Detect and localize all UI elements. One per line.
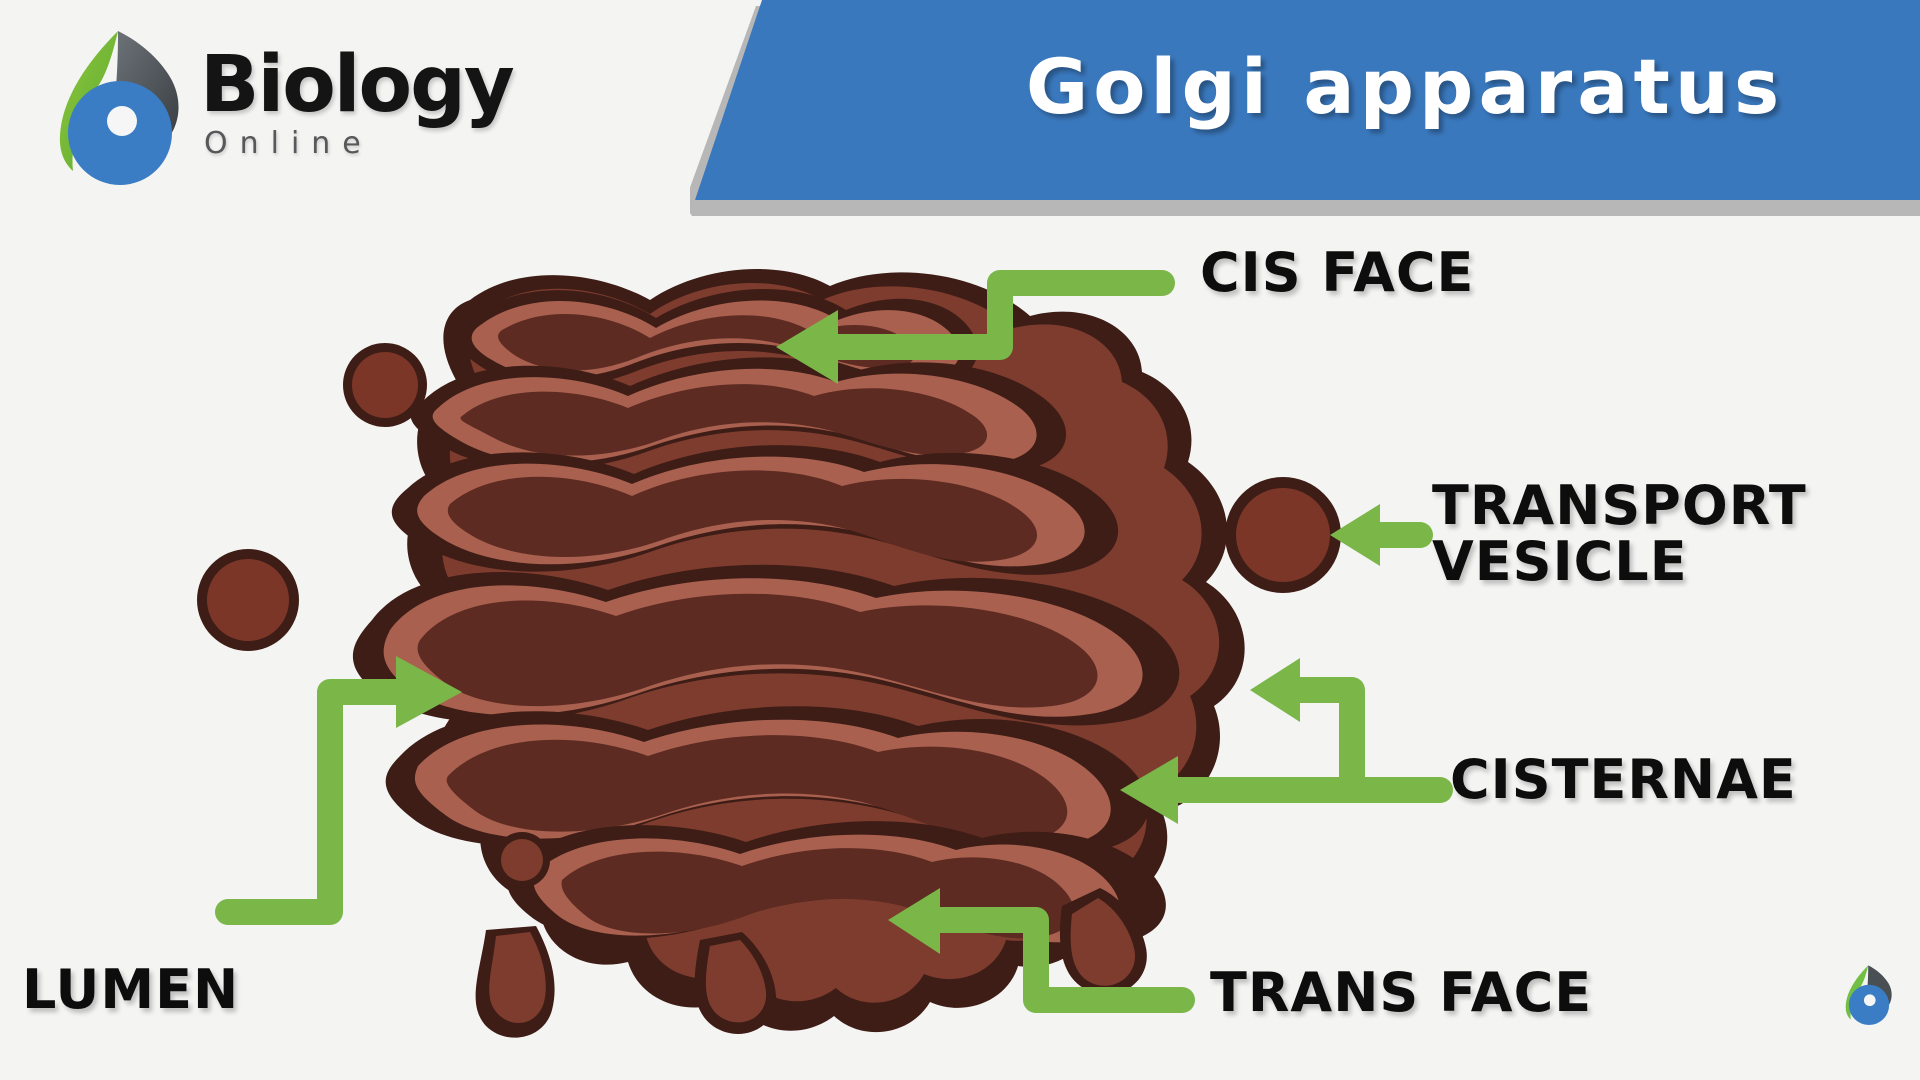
label-trans-face: TRANS FACE — [1210, 965, 1592, 1021]
arrow-transport-vesicle-head — [1330, 504, 1380, 566]
arrow-cisternae-upper — [1300, 690, 1352, 790]
label-cisternae: CISTERNAE — [1450, 752, 1797, 808]
label-transport-vesicle: TRANSPORT VESICLE — [1432, 478, 1807, 590]
arrow-cisternae-upper-head — [1250, 658, 1300, 722]
label-cis-face: CIS FACE — [1200, 245, 1474, 301]
page-root: Golgi apparatus — [0, 0, 1920, 1080]
label-lumen: LUMEN — [22, 962, 239, 1018]
vesicle-upper-left-fill — [352, 352, 418, 418]
arrow-lumen — [228, 692, 396, 912]
budding-vesicle-fill — [501, 839, 543, 881]
corner-brand-logo-icon[interactable] — [1838, 962, 1900, 1028]
vesicle-left-fill — [207, 559, 289, 641]
golgi-body — [353, 269, 1245, 1038]
vesicle-transport-fill — [1236, 488, 1330, 582]
